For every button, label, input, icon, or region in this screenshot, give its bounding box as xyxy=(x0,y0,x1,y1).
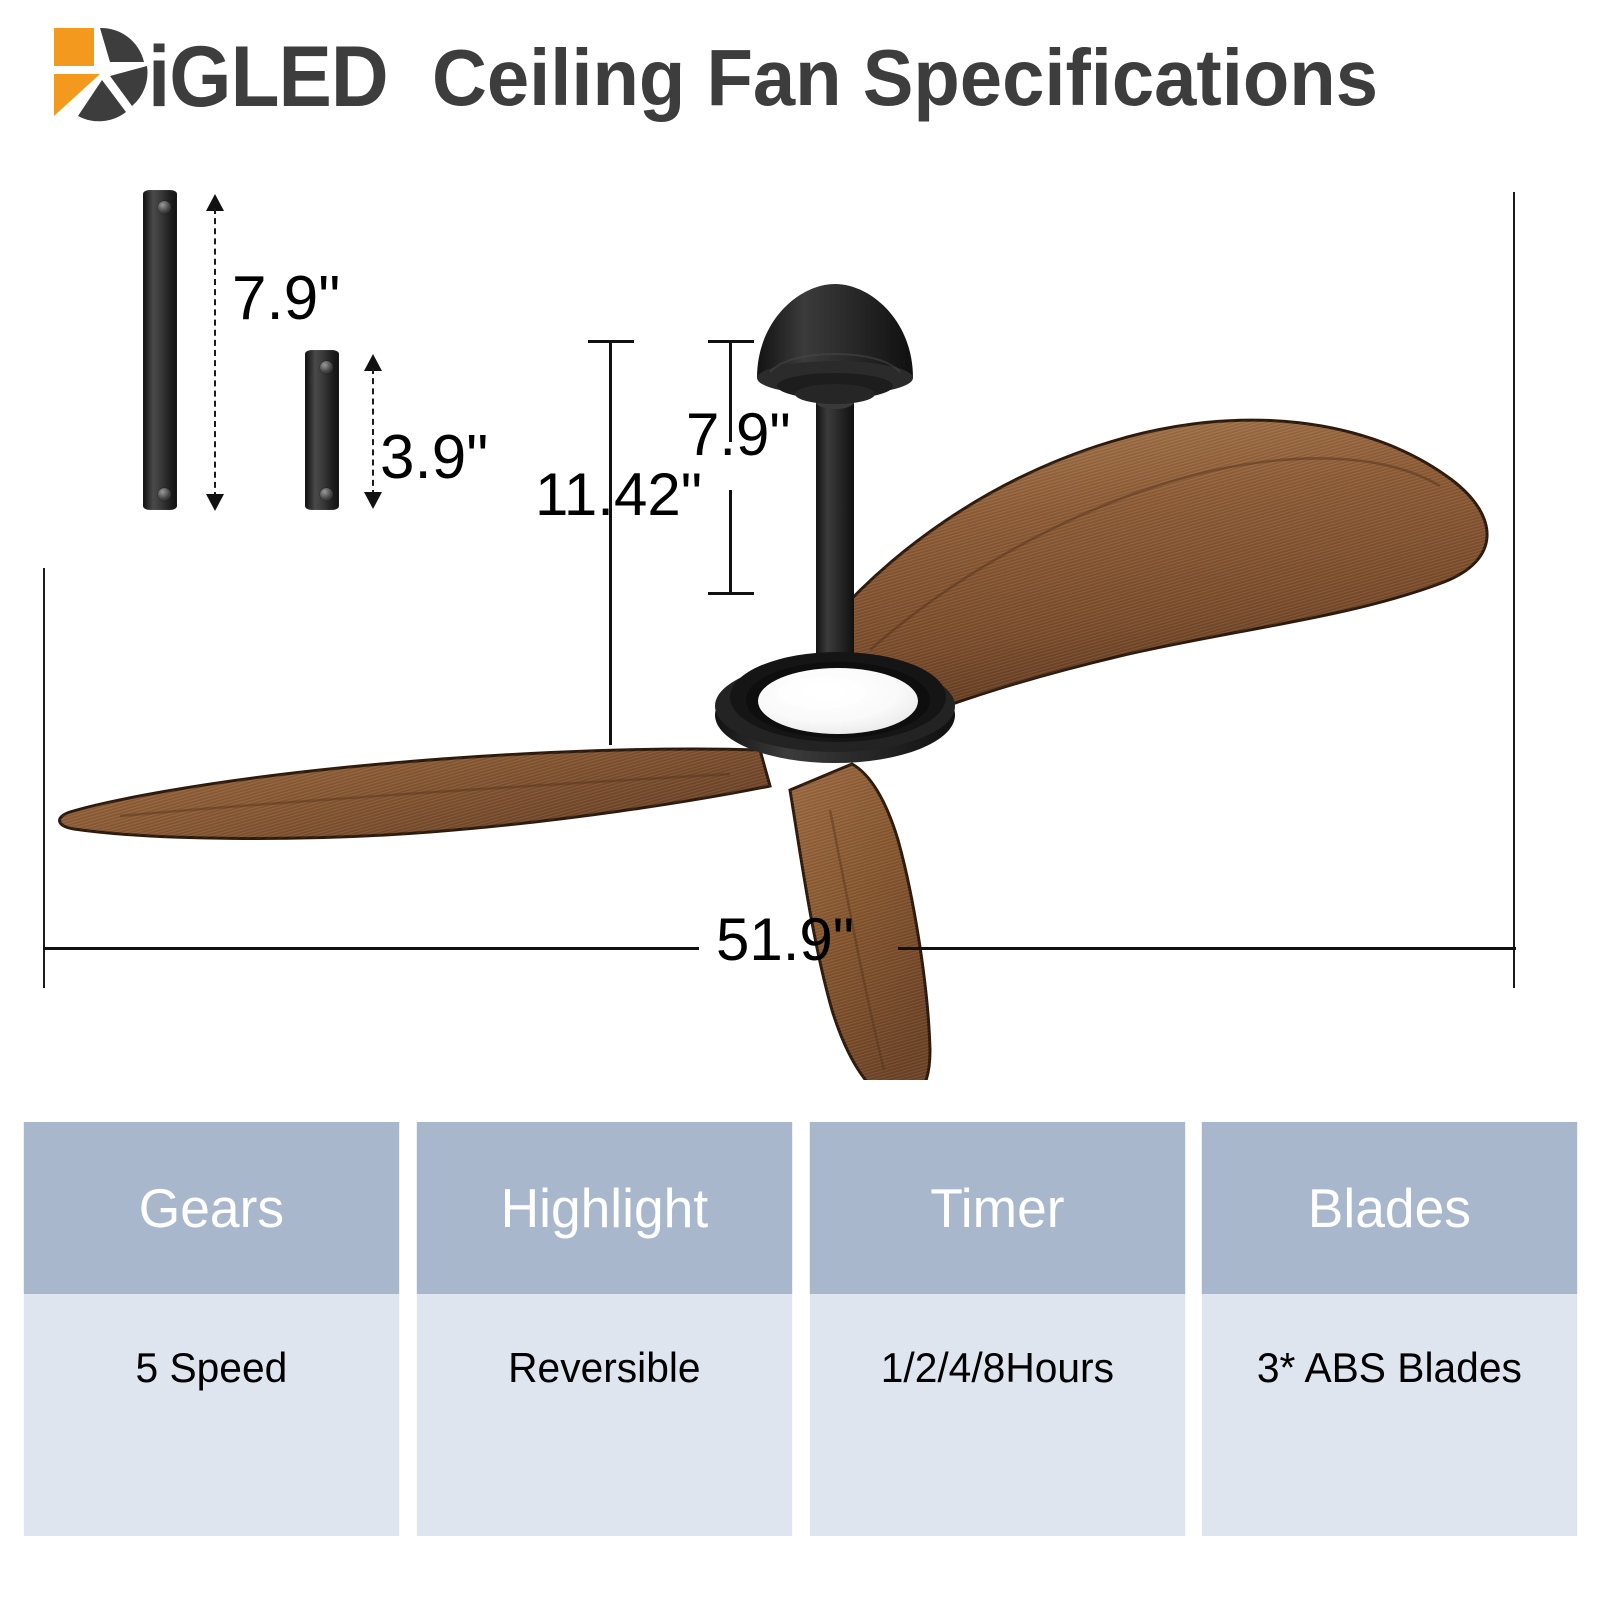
table-cell-gears: 5 Speed xyxy=(24,1294,399,1536)
table-header-highlight: Highlight xyxy=(417,1122,792,1294)
fan-blade-left xyxy=(60,749,770,839)
ceiling-fan-dimension-diagram: 7.9" 3.9" 11.42" 7.9" xyxy=(0,150,1600,1080)
led-light-panel xyxy=(728,652,948,742)
table-header-blades: Blades xyxy=(1202,1122,1577,1294)
specification-table: Gears Highlight Timer Blades 5 Speed Rev… xyxy=(18,1122,1583,1536)
table-header-gears: Gears xyxy=(24,1122,399,1294)
ceiling-canopy xyxy=(757,284,913,404)
table-cell-timer: 1/2/4/8Hours xyxy=(809,1294,1184,1536)
extension-line-left xyxy=(43,568,45,988)
dim-label-blade-span: 51.9" xyxy=(716,905,854,974)
table-header-timer: Timer xyxy=(809,1122,1184,1294)
digled-aperture-logo-icon xyxy=(48,22,160,122)
downrod xyxy=(816,396,854,696)
page-header: iGLED Ceiling Fan Specifications xyxy=(0,0,1600,150)
extension-line-right xyxy=(1513,192,1515,988)
table-cell-blades: 3* ABS Blades xyxy=(1202,1294,1577,1536)
dim-line-blade-span-right xyxy=(898,947,1516,950)
brand-wordmark: iGLED xyxy=(148,28,388,126)
dim-line-blade-span-left xyxy=(43,947,699,950)
page-title: Ceiling Fan Specifications xyxy=(432,28,1378,128)
table-cell-highlight: Reversible xyxy=(417,1294,792,1536)
